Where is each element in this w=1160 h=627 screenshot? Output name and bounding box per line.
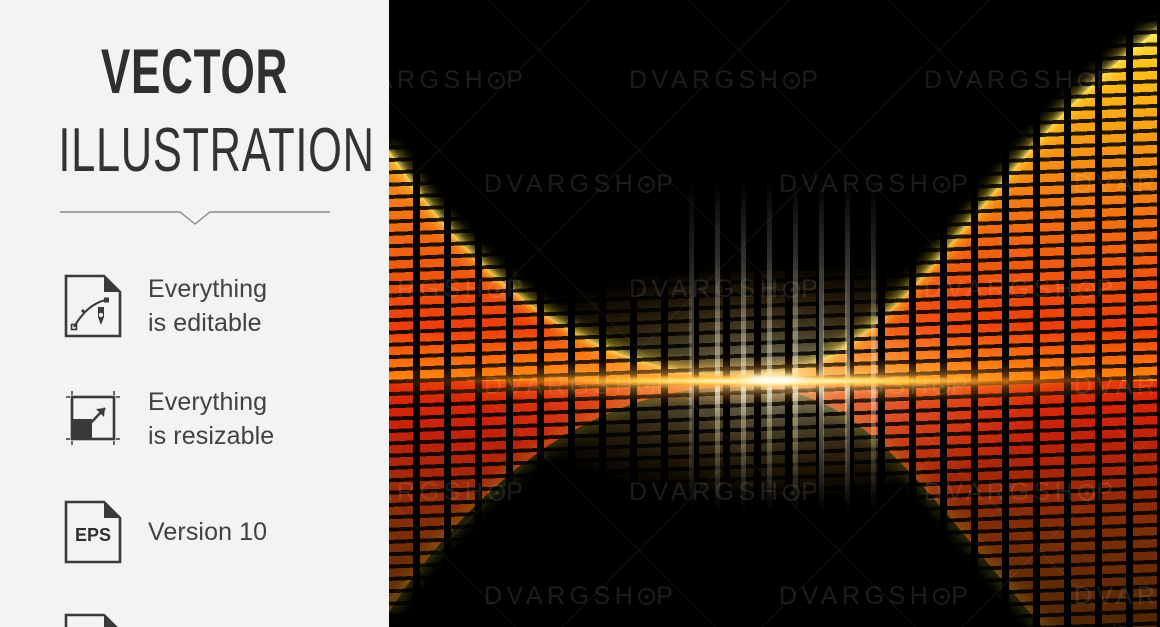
left-info-panel: VECTOR ILLUSTRATION	[0, 0, 389, 627]
feature-label: Version 10	[148, 515, 267, 550]
eps-icon-text: EPS	[75, 525, 111, 545]
vector-illustration-preview: VECTOR ILLUSTRATION	[0, 0, 1160, 627]
resize-crop-arrow-icon	[60, 386, 126, 452]
document-page-icon	[60, 612, 126, 627]
page-title: VECTOR	[58, 44, 330, 102]
feature-label: Everything is editable	[148, 272, 267, 341]
divider-notch-icon	[60, 206, 330, 228]
center-flare-rays	[689, 180, 879, 510]
divider	[60, 206, 330, 228]
audio-equalizer-wave-illustration: DVARGSHP DVARGSHP DVARGSHP DVARGSHP DVAR…	[389, 0, 1160, 627]
feature-list: Everything is editable	[0, 250, 389, 627]
page-subtitle: ILLUSTRATION	[58, 120, 330, 182]
document-pen-tool-icon	[60, 273, 126, 339]
center-flare-core	[714, 358, 834, 402]
feature-item-resizable: Everything is resizable	[60, 363, 389, 476]
title-block: VECTOR ILLUSTRATION	[0, 0, 389, 182]
feature-item-version: EPS Version 10	[60, 476, 389, 589]
feature-label: Everything is resizable	[148, 385, 274, 454]
feature-item-quality: High quality	[60, 589, 389, 627]
eps-document-icon: EPS	[60, 499, 126, 565]
feature-item-editable: Everything is editable	[60, 250, 389, 363]
